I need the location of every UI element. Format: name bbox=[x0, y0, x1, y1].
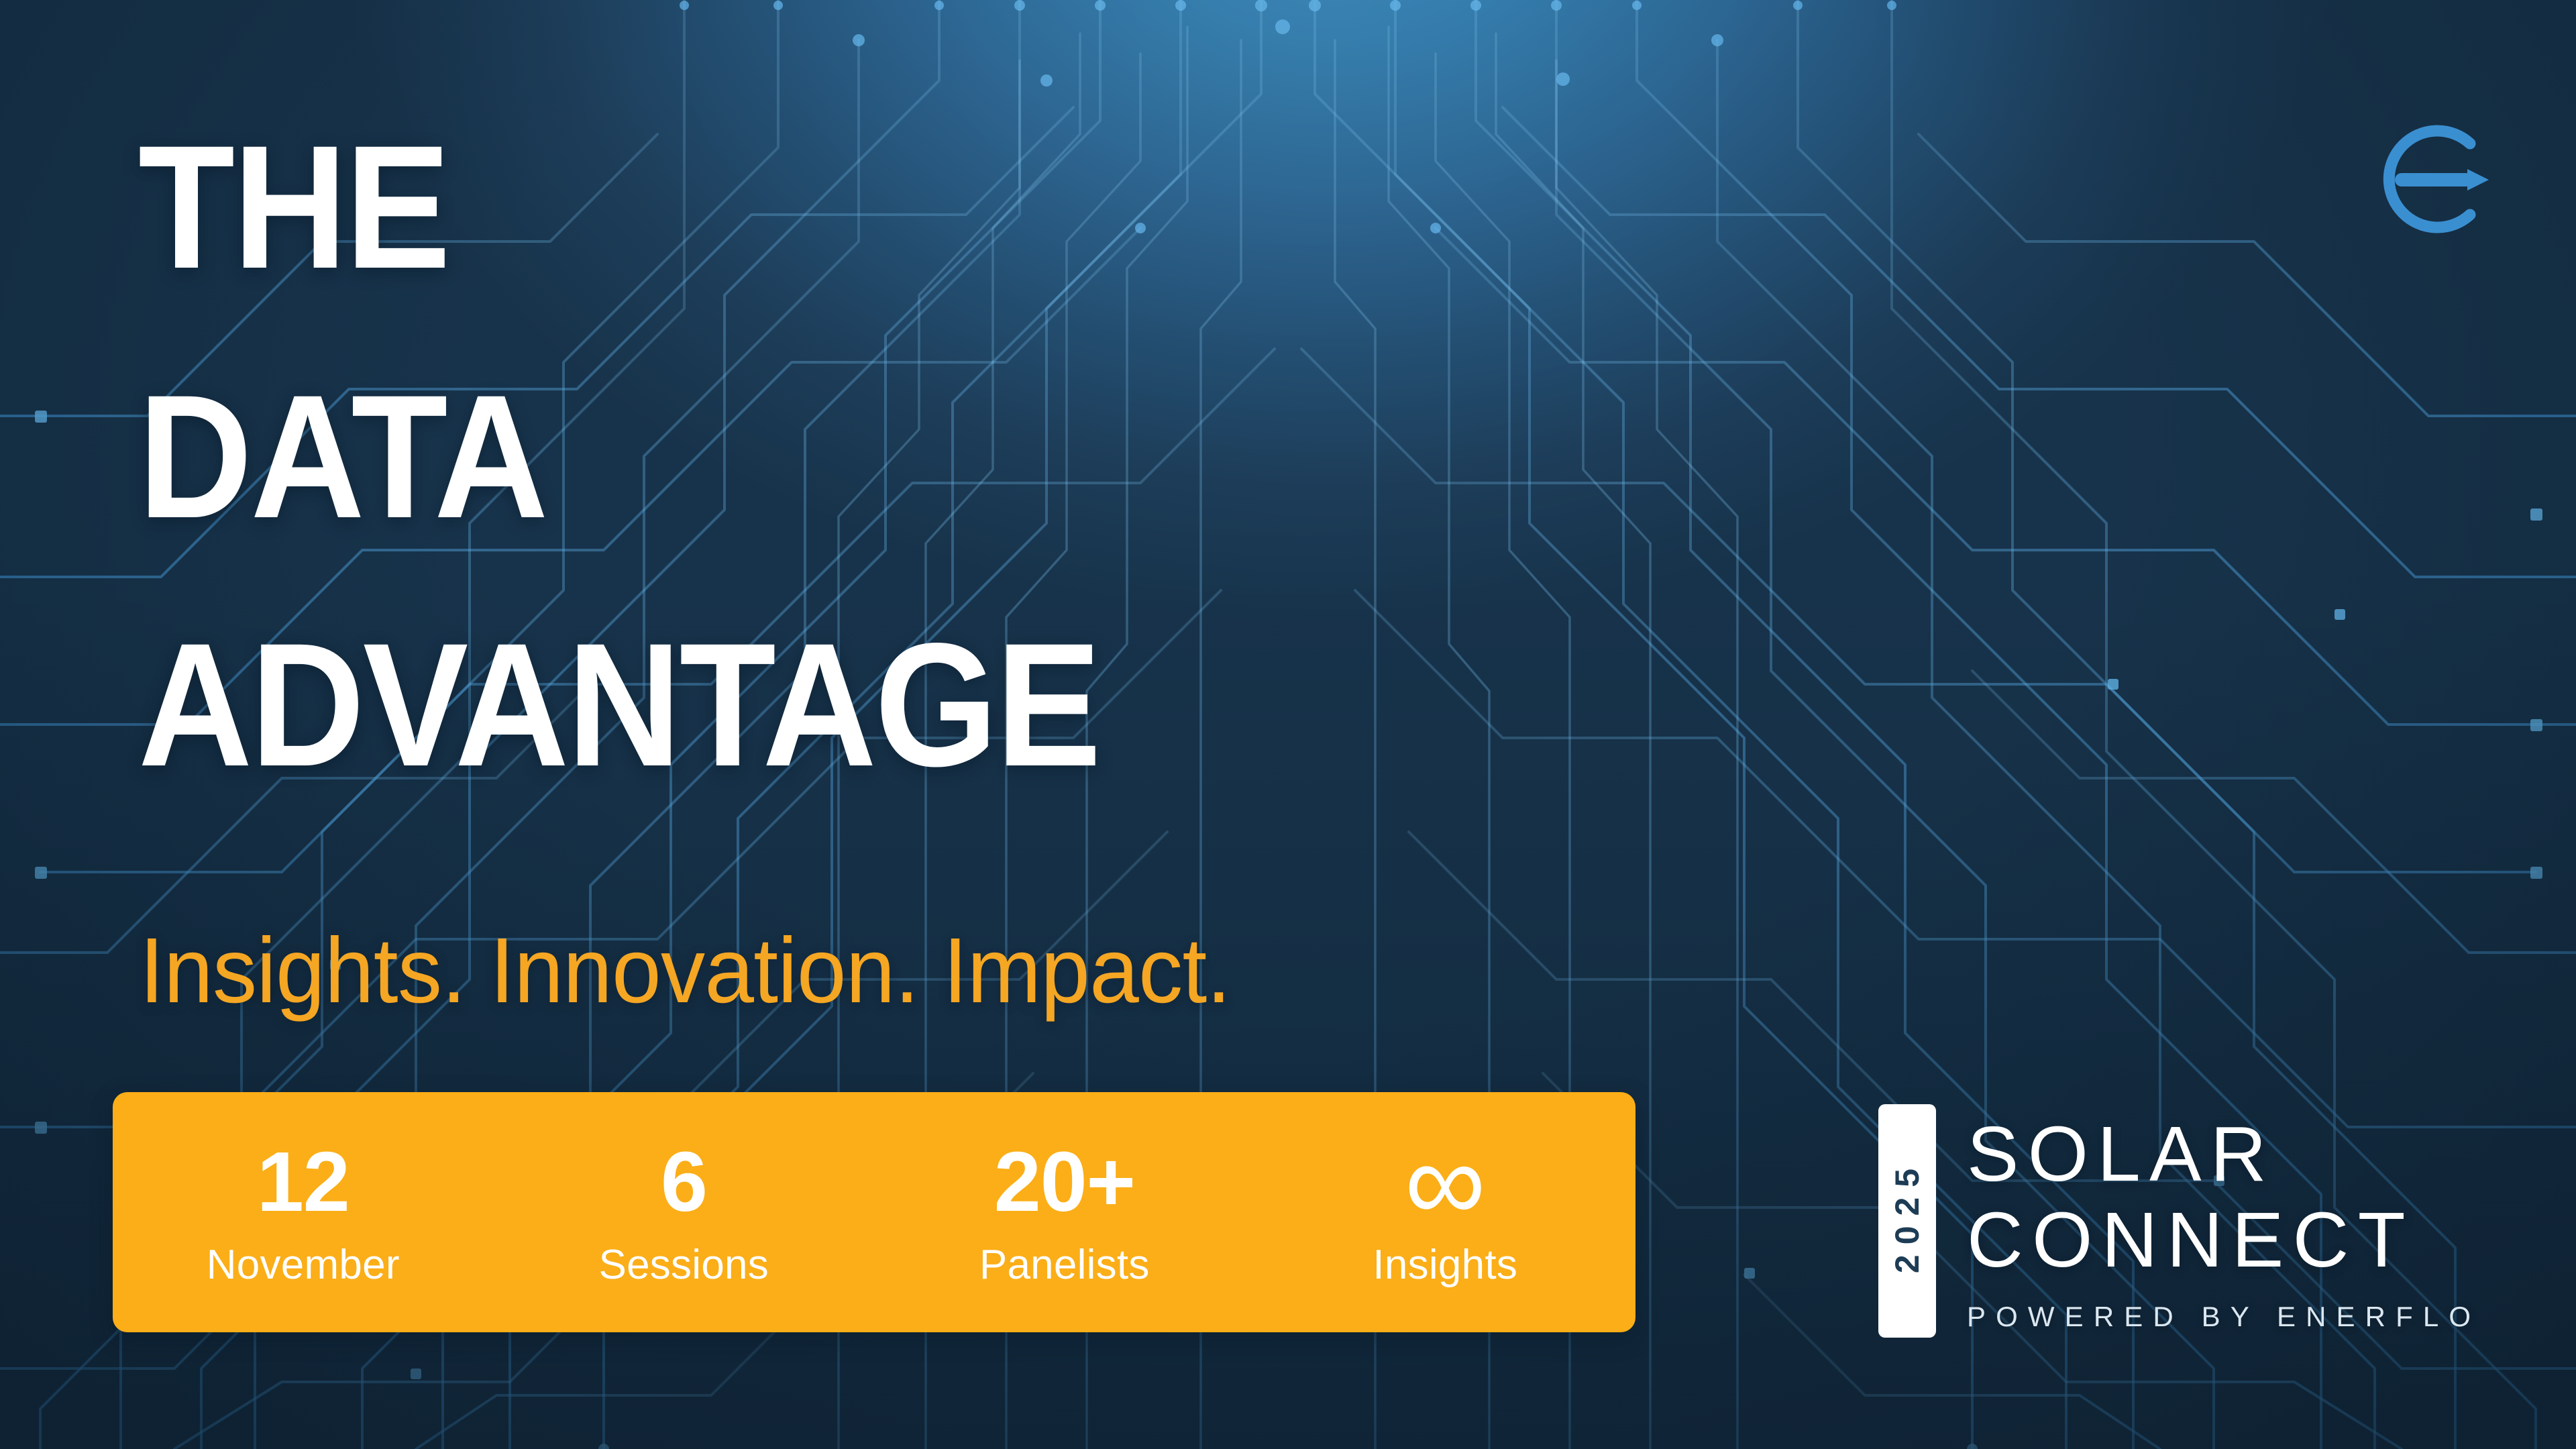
enerflo-circle-arrow-icon bbox=[2363, 115, 2502, 243]
logo-word-solar: SOLAR bbox=[1967, 1112, 2481, 1197]
event-promo-banner: THE DATA ADVANTAGE Insights. Innovation.… bbox=[0, 0, 2576, 1449]
year-label: 2025 bbox=[1888, 1159, 1927, 1283]
headline-line-1: THE bbox=[138, 131, 449, 282]
stat-label-date: November bbox=[207, 1244, 400, 1286]
stat-item-panelists: 20+ Panelists bbox=[874, 1138, 1255, 1286]
stat-label-panelists: Panelists bbox=[979, 1244, 1150, 1286]
stat-item-sessions: 6 Sessions bbox=[494, 1138, 875, 1286]
headline-line-2: DATA bbox=[138, 381, 547, 532]
headline-line-3: ADVANTAGE bbox=[138, 629, 1099, 780]
logo-word-connect: CONNECT bbox=[1967, 1197, 2481, 1283]
infinity-icon: ∞ bbox=[1405, 1138, 1486, 1226]
stat-value-sessions: 6 bbox=[661, 1138, 707, 1226]
tagline: Insights. Innovation. Impact. bbox=[140, 918, 1230, 1024]
stat-label-insights: Insights bbox=[1373, 1244, 1517, 1286]
solar-connect-logo: 2025 SOLAR CONNECT POWERED BY ENERFLO bbox=[1878, 1104, 2481, 1338]
stat-value-date: 12 bbox=[257, 1138, 350, 1226]
stat-item-date: 12 November bbox=[113, 1138, 494, 1286]
logo-wordmark: SOLAR CONNECT POWERED BY ENERFLO bbox=[1967, 1104, 2481, 1338]
stat-label-sessions: Sessions bbox=[598, 1244, 769, 1286]
logo-tagline: POWERED BY ENERFLO bbox=[1967, 1301, 2481, 1333]
stat-value-panelists: 20+ bbox=[994, 1138, 1135, 1226]
event-stats-bar: 12 November 6 Sessions 20+ Panelists ∞ I… bbox=[113, 1092, 1635, 1332]
year-tab: 2025 bbox=[1878, 1104, 1936, 1338]
stat-item-insights: ∞ Insights bbox=[1255, 1138, 1636, 1286]
